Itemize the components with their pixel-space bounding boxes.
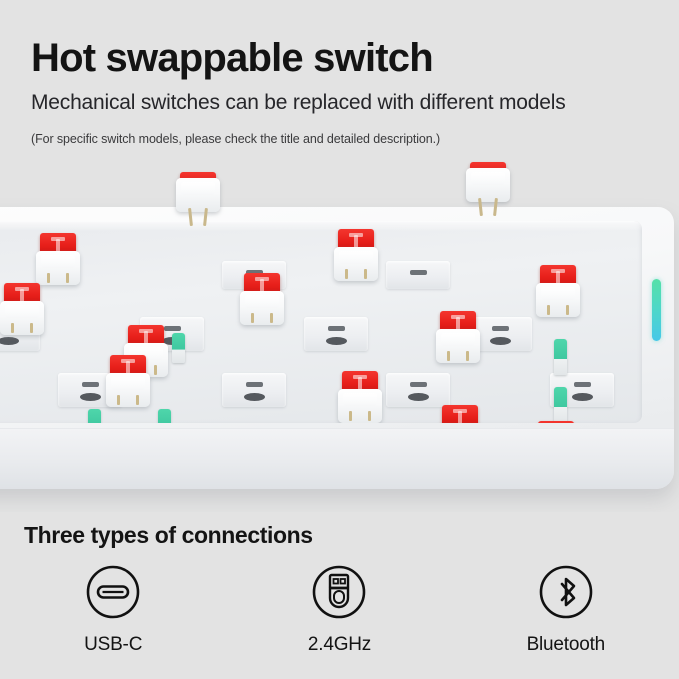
page-subtitle: Mechanical switches can be replaced with… — [31, 92, 566, 113]
connections-title: Three types of connections — [24, 524, 313, 547]
bluetooth-icon — [538, 564, 594, 620]
stabilizer-clip — [88, 409, 101, 423]
page-note: (For specific switch models, please chec… — [31, 133, 440, 146]
dongle-icon — [311, 564, 367, 620]
mechanical-switch — [334, 229, 378, 281]
keyboard-case — [0, 207, 674, 489]
mechanical-switch — [0, 283, 44, 335]
mechanical-switch — [106, 355, 150, 407]
stabilizer-clip — [158, 409, 171, 423]
connections-section: Three types of connections USB-C — [0, 512, 679, 679]
connections-list: USB-C 2.4GHz Blu — [0, 564, 679, 674]
plate-highlight — [0, 221, 642, 231]
mechanical-switch — [534, 421, 578, 423]
page-title: Hot swappable switch — [31, 38, 433, 78]
header-text-block: Hot swappable switch Mechanical switches… — [0, 0, 679, 155]
switch-socket — [386, 261, 450, 289]
indicator-led — [652, 279, 661, 341]
stabilizer-clip — [554, 387, 567, 423]
floating-mechanical-switch — [466, 152, 510, 216]
mechanical-switch — [36, 233, 80, 285]
mechanical-switch — [536, 265, 580, 317]
connection-item-bluetooth: Bluetooth — [453, 564, 679, 656]
product-feature-image: Hot swappable switch Mechanical switches… — [0, 0, 679, 679]
mechanical-switch — [438, 405, 482, 423]
stabilizer-clip — [554, 339, 567, 375]
mechanical-switch — [436, 311, 480, 363]
floating-mechanical-switch — [176, 158, 220, 226]
connection-label-24ghz: 2.4GHz — [308, 634, 371, 656]
connection-item-24ghz: 2.4GHz — [226, 564, 452, 656]
switch-socket — [304, 317, 368, 351]
stabilizer-clip — [172, 333, 185, 363]
connection-label-bluetooth: Bluetooth — [527, 634, 606, 656]
connection-item-usb-c: USB-C — [0, 564, 226, 656]
connection-label-usb-c: USB-C — [84, 634, 142, 656]
mechanical-switch — [240, 273, 284, 325]
keyboard-product-photo — [0, 152, 679, 512]
mechanical-switch — [338, 371, 382, 423]
usb-c-icon — [85, 564, 141, 620]
keyboard-plate — [0, 221, 642, 423]
switch-socket — [386, 373, 450, 407]
switch-socket — [222, 373, 286, 407]
